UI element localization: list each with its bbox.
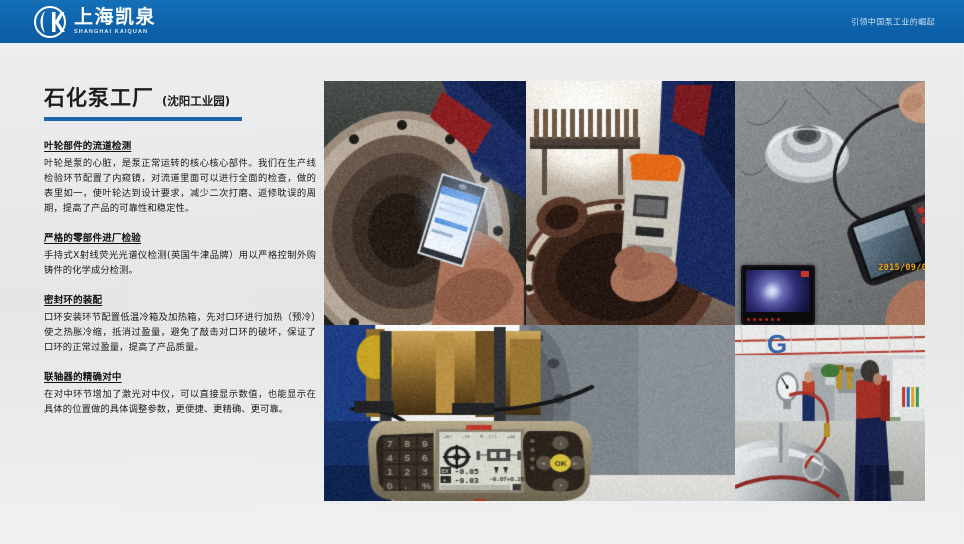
- photo-collage: 2015/09/0 G: [324, 81, 925, 501]
- section-impeller-flow-inspection: 叶轮部件的流道检测 叶轮是泵的心脏，是泵正常运转的核心核心部件。我们在生产线检验…: [44, 138, 316, 216]
- record-indicator-icon: [801, 271, 809, 277]
- camera-date-stamp: 2015/09/0: [878, 263, 925, 273]
- monitor-led-row: [747, 318, 780, 321]
- kaiquan-circle-k-logo-icon: [33, 5, 67, 39]
- page-title: 石化泵工厂 (沈阳工业园): [44, 82, 316, 112]
- logo-text-en: SHANGHAI KAIQUAN: [74, 30, 156, 36]
- photo-endoscope-impeller: 2015/09/0: [735, 81, 925, 325]
- logo-text-cn: 上海凯泉: [74, 8, 156, 27]
- section-seal-ring-assembly: 密封环的装配 口环安装环节配置低温冷箱及加热箱，先对口环进行加热（预冷）使之热胀…: [44, 292, 316, 355]
- section-body: 在对中环节增加了激光对中仪，可以直接显示数值，也能显示在具体的位置做的具体调整参…: [44, 387, 316, 417]
- slide-root: 上海凯泉 SHANGHAI KAIQUAN 引领中国泵工业的崛起 石化泵工厂 (…: [0, 0, 964, 544]
- section-incoming-parts-inspection: 严格的零部件进厂检验 手持式X射线荧光光谱仪检测(英国牛津品牌）用以严格控制外购…: [44, 230, 316, 278]
- content-left-column: 石化泵工厂 (沈阳工业园) 叶轮部件的流道检测 叶轮是泵的心脏，是泵正常运转的核…: [44, 82, 316, 432]
- page-header: 上海凯泉 SHANGHAI KAIQUAN 引领中国泵工业的崛起: [0, 0, 964, 43]
- section-heading: 叶轮部件的流道检测: [44, 138, 316, 152]
- section-body: 叶轮是泵的心脏，是泵正常运转的核心核心部件。我们在生产线检验环节配置了内窥镜，对…: [44, 156, 316, 216]
- photo-flange-inspection: [324, 81, 526, 325]
- workshop-wall-letter: G: [767, 329, 787, 360]
- photo-assembly-workshop: G: [735, 325, 925, 501]
- section-heading: 严格的零部件进厂检验: [44, 230, 316, 244]
- page-title-main: 石化泵工厂: [44, 82, 154, 112]
- header-slogan: 引领中国泵工业的崛起: [851, 16, 935, 27]
- section-coupling-alignment: 联轴器的精确对中 在对中环节增加了激光对中仪，可以直接显示数值，也能显示在具体的…: [44, 369, 316, 417]
- section-heading: 联轴器的精确对中: [44, 369, 316, 383]
- section-body: 手持式X射线荧光光谱仪检测(英国牛津品牌）用以严格控制外购铸件的化学成分检测。: [44, 248, 316, 278]
- photo-laser-alignment: [324, 325, 735, 501]
- photo-xrf-analyzer: [526, 81, 735, 325]
- section-heading: 密封环的装配: [44, 292, 316, 306]
- company-logo[interactable]: 上海凯泉 SHANGHAI KAIQUAN: [33, 5, 156, 39]
- title-underline-rule: [44, 117, 242, 121]
- page-title-sub: (沈阳工业园): [162, 93, 230, 109]
- endoscope-monitor-screen: [741, 265, 815, 325]
- section-body: 口环安装环节配置低温冷箱及加热箱，先对口环进行加热（预冷）使之热胀冷缩，抵消过盈…: [44, 310, 316, 355]
